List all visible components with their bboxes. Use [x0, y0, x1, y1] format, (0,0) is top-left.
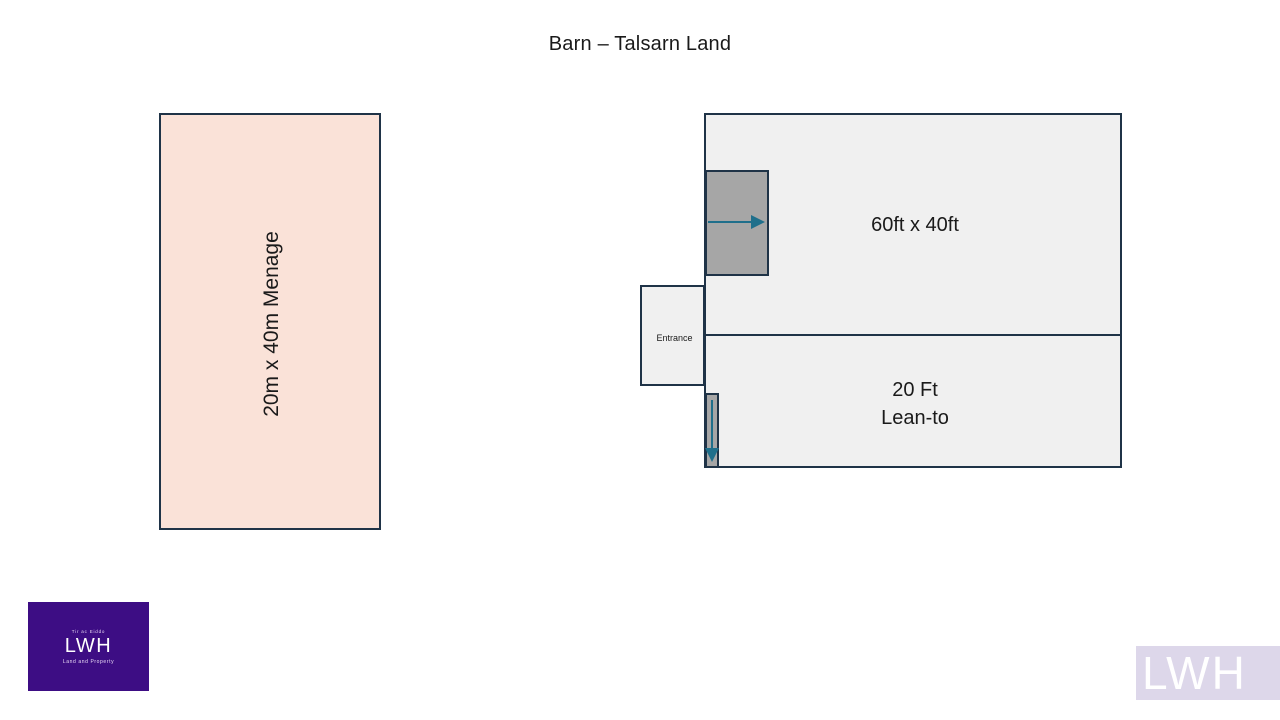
barn-leanto-label: 20 Ft Lean-to: [706, 376, 1124, 432]
watermark-text: LWH: [1136, 650, 1247, 696]
entrance-label: Entrance: [642, 287, 707, 388]
lwh-logo[interactable]: Tir ac Eiddo LWH Land and Property: [28, 602, 149, 691]
barn-leanto-label-line1: 20 Ft: [706, 376, 1124, 404]
logo-tagline-english: Land and Property: [63, 659, 114, 665]
barn-leanto-label-line2: Lean-to: [706, 404, 1124, 432]
door-swing-right-arrow-icon: [708, 212, 770, 232]
entrance-area[interactable]: Entrance: [640, 285, 705, 386]
barn-diagram: 60ft x 40ft 20 Ft Lean-to Entrance: [0, 0, 1280, 720]
logo-wordmark: LWH: [65, 635, 112, 657]
door-swing-down-arrow-icon: [702, 400, 722, 468]
watermark-badge: LWH: [1136, 646, 1280, 700]
barn-leanto-area[interactable]: 20 Ft Lean-to: [704, 334, 1122, 468]
logo-tagline-welsh: Tir ac Eiddo: [72, 629, 105, 634]
slide-canvas: Barn – Talsarn Land 20m x 40m Menage 60f…: [0, 0, 1280, 720]
